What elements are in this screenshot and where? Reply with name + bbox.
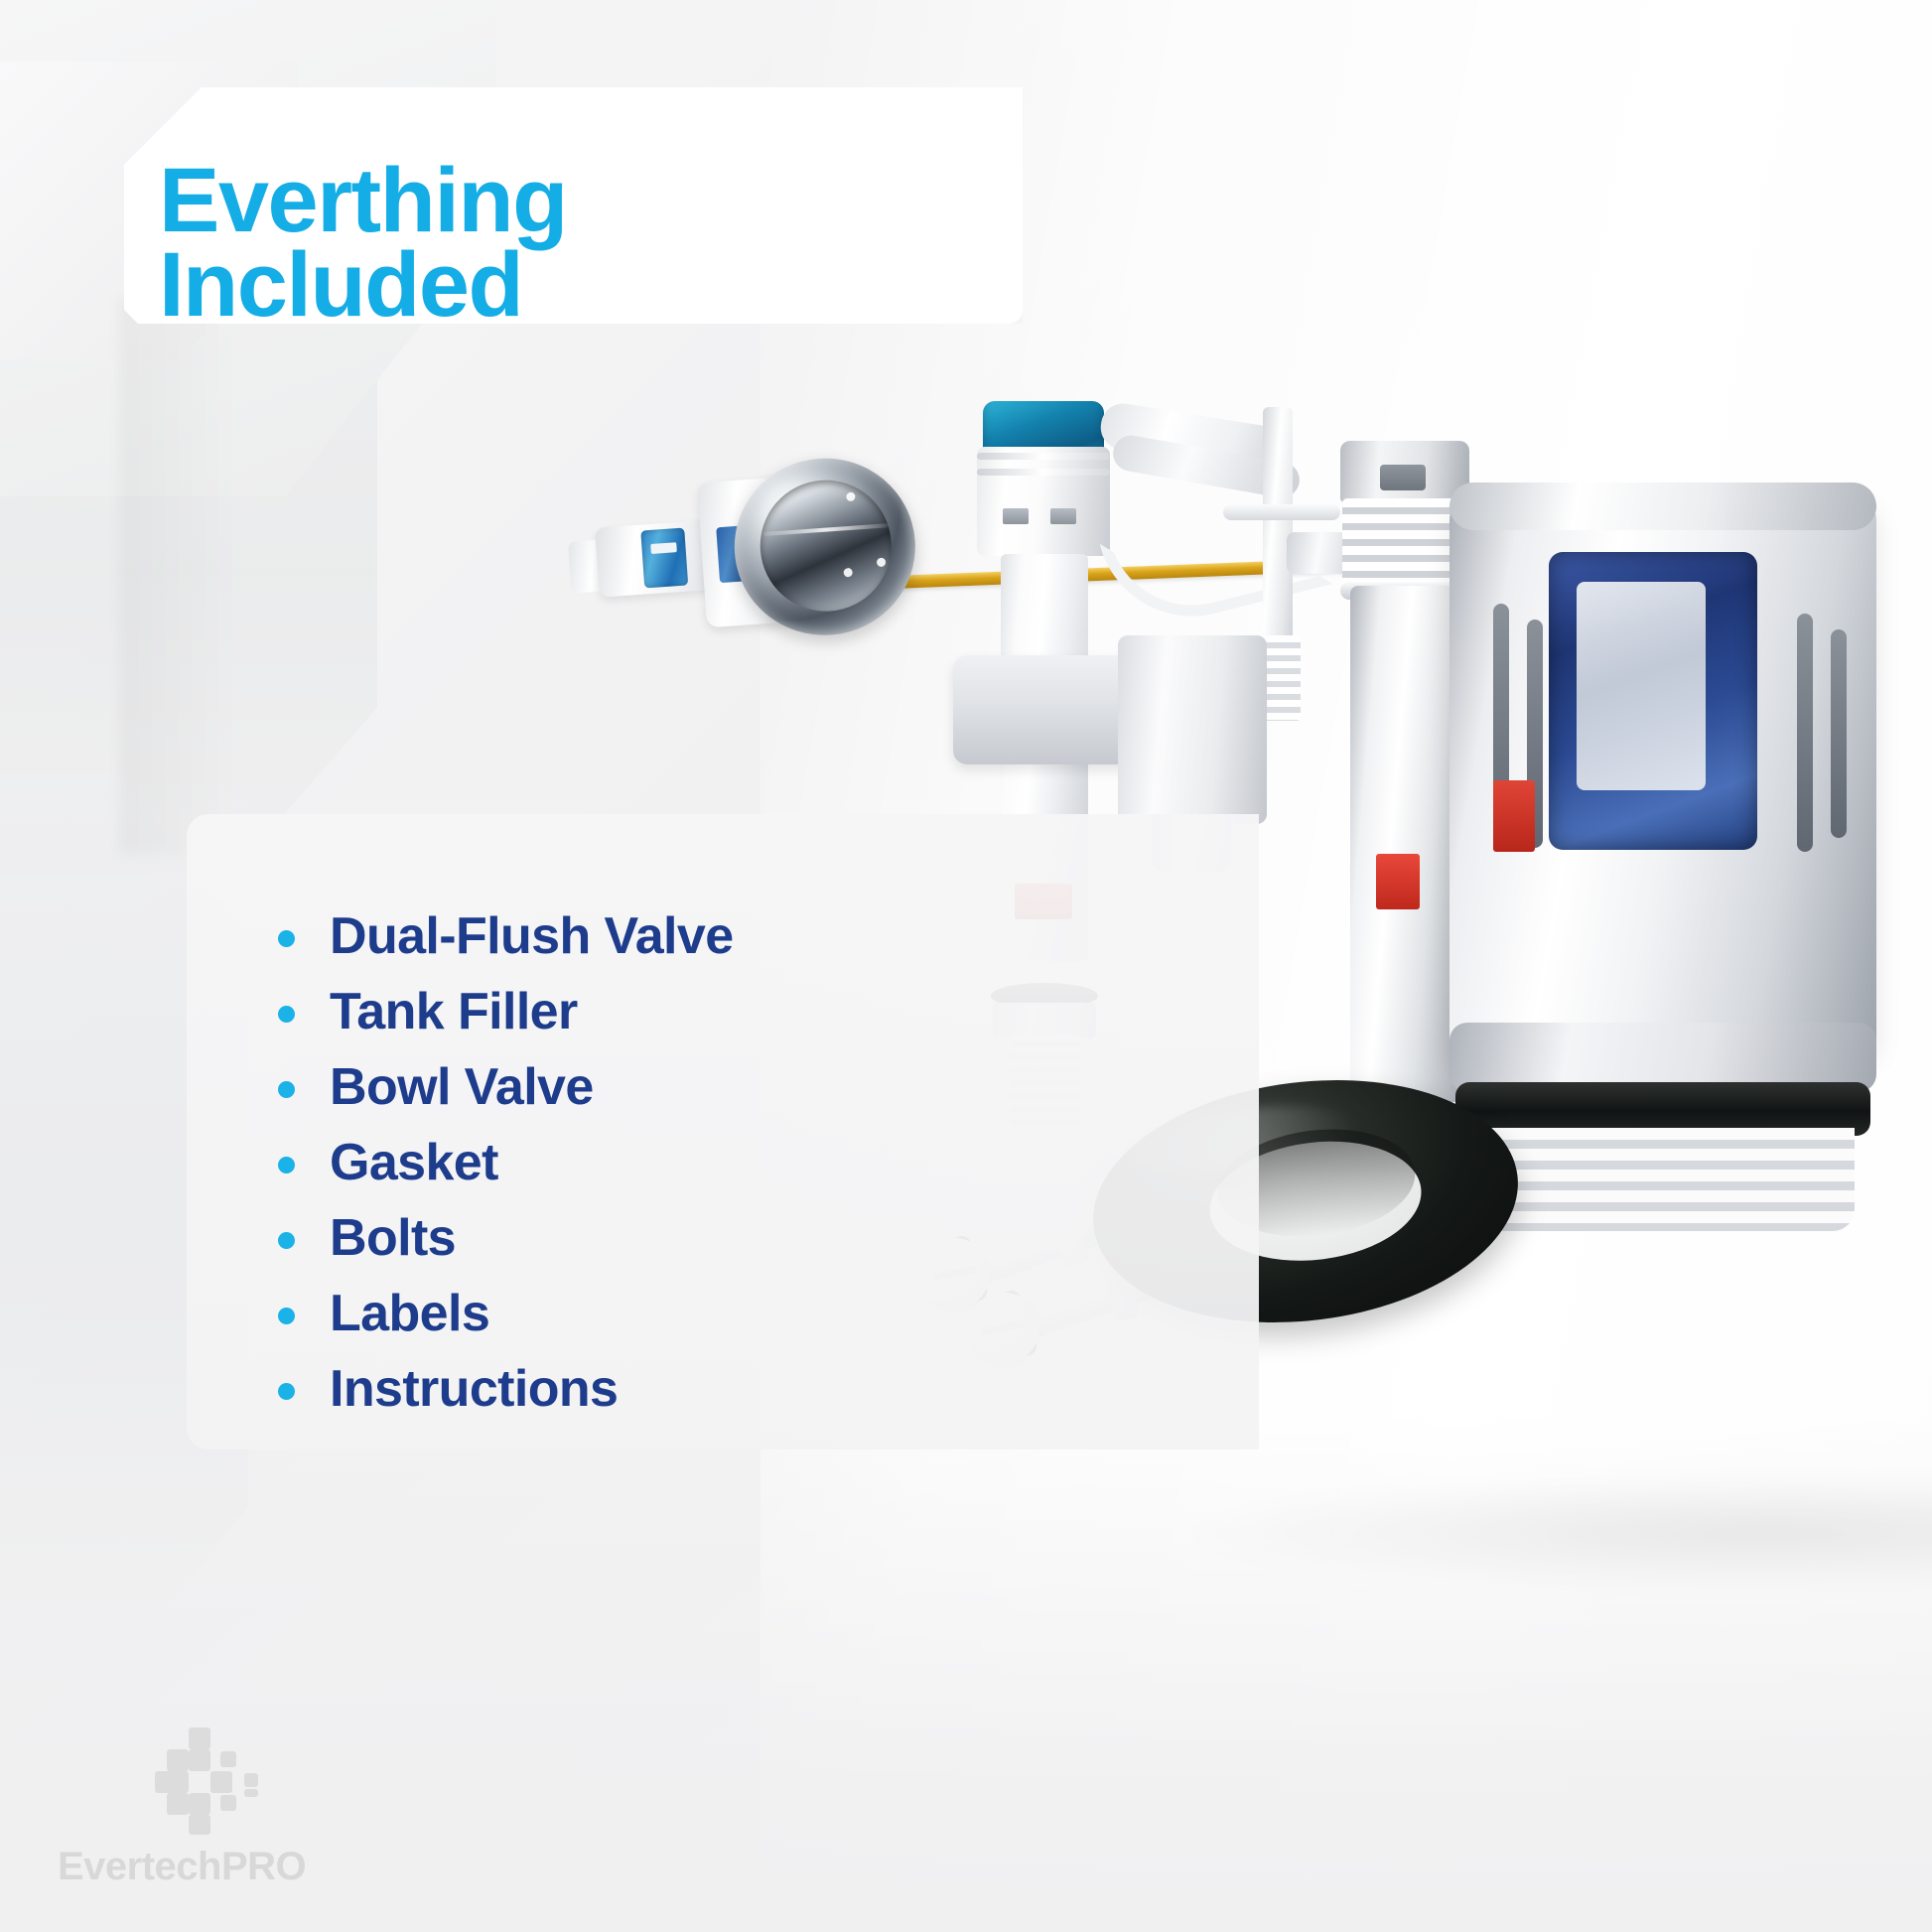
bullet-dot-icon (278, 930, 295, 947)
list-item-label: Labels (330, 1288, 489, 1339)
list-item: Tank Filler (278, 974, 1132, 1049)
flush-valve-window (1549, 552, 1757, 850)
bullet-dot-icon (278, 1232, 295, 1249)
list-item: Gasket (278, 1125, 1132, 1200)
list-item: Dual-Flush Valve (278, 898, 1132, 974)
bullet-dot-icon (278, 1157, 295, 1173)
refill-riser-crossbar (1223, 504, 1340, 520)
included-items-list: Dual-Flush Valve Tank Filler Bowl Valve … (278, 898, 1132, 1427)
list-item-label: Instructions (330, 1363, 618, 1415)
fill-valve-slot-2 (1050, 508, 1076, 524)
list-item: Labels (278, 1276, 1132, 1351)
evertech-pixel-mark-icon (155, 1727, 264, 1835)
canister-slot-4 (1831, 629, 1847, 838)
blue-clip (640, 528, 688, 589)
page-title: Everthing Included (159, 159, 567, 327)
chrome-inner-button (756, 476, 896, 616)
bullet-dot-icon (278, 1081, 295, 1098)
bowl-valve-body (1350, 586, 1461, 1102)
list-item: Bowl Valve (278, 1049, 1132, 1125)
list-item-label: Tank Filler (330, 986, 578, 1037)
brand-logo: EvertechPRO (58, 1727, 395, 1886)
dual-flush-button (585, 445, 944, 657)
slide-canvas: Everthing Included Dual-Flush Valve Tank… (0, 0, 1932, 1932)
fill-valve-head (977, 447, 1110, 556)
list-item-label: Dual-Flush Valve (330, 910, 734, 962)
list-item-label: Bowl Valve (330, 1061, 594, 1113)
bullet-dot-icon (278, 1383, 295, 1400)
list-item: Instructions (278, 1351, 1132, 1427)
bullet-dot-icon (278, 1308, 295, 1324)
fill-valve-slot-1 (1003, 508, 1029, 524)
list-item-label: Gasket (330, 1137, 498, 1188)
list-item-label: Bolts (330, 1212, 456, 1264)
canister-slot-3 (1797, 614, 1813, 852)
flush-valve-red-marker (1493, 780, 1535, 852)
refill-valve-body (1118, 635, 1267, 824)
flush-valve-rim (1449, 483, 1876, 530)
bowl-valve-top (1340, 441, 1469, 502)
bowl-valve-red-marker (1376, 854, 1420, 909)
brand-name: EvertechPRO (58, 1845, 306, 1889)
flush-valve-threaded-base (1469, 1128, 1855, 1231)
fill-valve-ring-2 (977, 469, 1110, 476)
fill-valve-ring-1 (977, 453, 1110, 460)
background-edge-shadow (119, 298, 238, 854)
bullet-dot-icon (278, 1006, 295, 1023)
list-item: Bolts (278, 1200, 1132, 1276)
flush-valve-seal-plate (1577, 582, 1706, 790)
